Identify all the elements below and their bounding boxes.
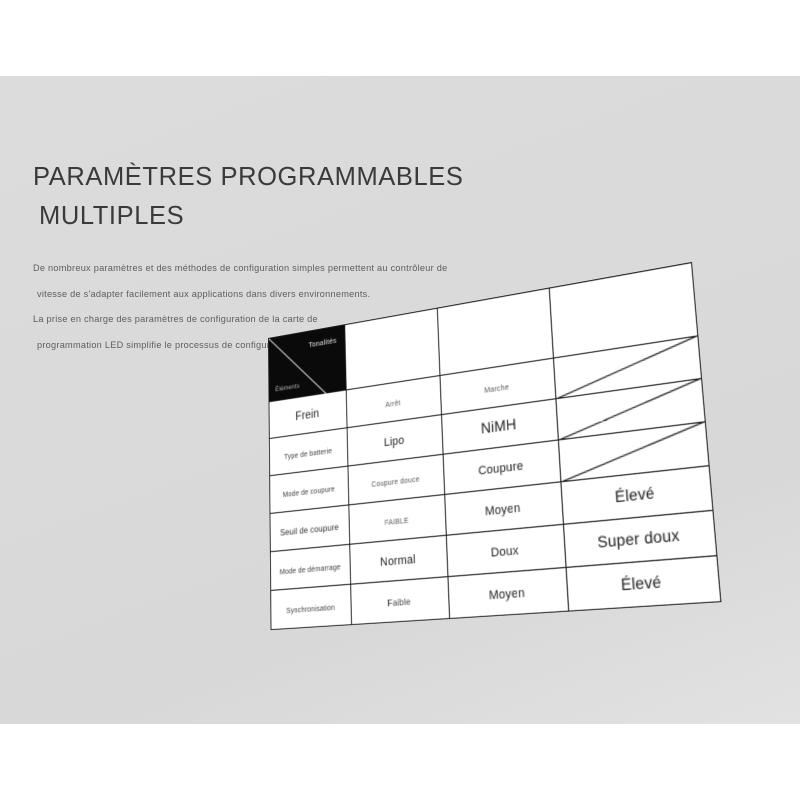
table-row: Mode de démarrage Normal Doux Super doux (270, 510, 717, 590)
value-text: Lipo (384, 434, 405, 449)
value-cell: Faible (351, 577, 450, 625)
value-cell: Élevé (561, 466, 713, 525)
row-label-cell: Mode de démarrage (270, 544, 350, 590)
row-label-text: Frein (295, 408, 319, 424)
table-row: Synchronisation Faible Moyen Élevé (271, 556, 721, 630)
value-text: Coupure douce (371, 476, 419, 489)
paragraph-line-1: De nombreux paramètres et des méthodes d… (33, 256, 553, 282)
value-text: Arrêt (385, 400, 400, 409)
value-cell: Coupure douce (348, 454, 445, 505)
table-row: Frein Arrêt Marche (269, 336, 702, 439)
corner-tones-label: Tonalités (309, 336, 337, 350)
corner-elements-label: Éléments (275, 383, 299, 394)
column-header-2-sub: 2 tonalités courtes (439, 329, 551, 358)
row-label-text: Seuil de coupure (280, 521, 339, 537)
value-cell: Super doux (563, 510, 717, 567)
column-header-3-main: "bip-bip-bip" 3 (551, 281, 695, 327)
strike-through-icon (555, 378, 706, 441)
row-label-text: Mode de coupure (283, 484, 335, 499)
value-text: Élevé (620, 573, 662, 594)
value-cell: Marche (440, 358, 556, 415)
title-line-1: PARAMÈTRES PROGRAMMABLES (33, 158, 593, 197)
page-canvas: PARAMÈTRES PROGRAMMABLES MULTIPLES De no… (0, 0, 800, 800)
value-text: Faible (388, 597, 411, 609)
value-cell: Moyen (445, 482, 564, 535)
table-body: Frein Arrêt Marche Type de batterie Lipo (269, 336, 721, 630)
row-label-text: Mode de démarrage (280, 562, 341, 577)
value-text: NiMH (481, 416, 517, 437)
value-text: Élevé (614, 484, 655, 506)
spec-table: Tonalités Éléments "bip-" 1 tonalité cou… (268, 262, 722, 630)
value-text: Doux (491, 544, 519, 560)
value-text: Super doux (597, 526, 680, 551)
value-cell-not-applicable (558, 422, 709, 482)
value-cell: Arrêt (346, 376, 441, 428)
row-label-cell: Seuil de coupure (270, 505, 350, 552)
row-label-cell: Mode de coupure (270, 466, 349, 513)
value-cell: Coupure (443, 440, 561, 495)
corner-cell: Tonalités Éléments (268, 325, 346, 402)
column-header-2: "bip-bip-" 2 tonalités courtes (437, 288, 553, 375)
column-header-3-sub: tonalités courtes (552, 306, 695, 340)
value-cell-not-applicable (556, 378, 705, 439)
spec-table-scene: Frein Arrêt Marche Type de batterie Lipo… (0, 300, 800, 800)
value-cell: Élevé (566, 556, 721, 612)
corner-diagonal-icon (269, 325, 346, 424)
value-text: Normal (380, 553, 416, 569)
value-cell: FAIBLE (349, 494, 446, 544)
table-row: Seuil de coupure FAIBLE Moyen Élevé (270, 466, 713, 552)
column-header-2-main: "bip-bip-" (438, 306, 551, 345)
row-label-cell: Synchronisation (271, 584, 352, 630)
value-text: Marche (484, 384, 509, 395)
value-cell: Moyen (448, 567, 569, 618)
value-text: Moyen (485, 502, 521, 519)
value-cell: NiMH (442, 399, 559, 455)
row-label-cell: Frein (269, 390, 347, 439)
value-text: Coupure (478, 459, 524, 478)
row-label-text: Synchronisation (286, 602, 335, 615)
column-header-1-main: "bip-" 1 (346, 327, 439, 359)
title-line-2: MULTIPLES (33, 197, 593, 236)
value-cell-not-applicable (553, 336, 701, 399)
spec-table-wrapper: Tonalités Éléments "bip-" 1 tonalité cou… (268, 262, 720, 630)
table-row: Type de batterie Lipo NiMH (269, 378, 705, 475)
row-label-cell: Type de batterie (269, 428, 348, 476)
value-cell: Doux (446, 524, 566, 576)
value-text: Moyen (489, 586, 526, 602)
value-cell: Lipo (347, 415, 443, 466)
column-header-1: "bip-" 1 tonalité courte (345, 308, 440, 390)
table-row: Mode de coupure Coupure douce Coupure (270, 422, 710, 514)
column-header-1-sub: tonalité courte (346, 345, 439, 371)
value-text: FAIBLE (385, 517, 409, 527)
strike-through-icon (553, 335, 702, 399)
page-title: PARAMÈTRES PROGRAMMABLES MULTIPLES (33, 158, 593, 236)
row-label-text: Type de batterie (284, 446, 332, 461)
strike-through-icon (558, 421, 710, 482)
value-cell: Normal (350, 535, 448, 584)
